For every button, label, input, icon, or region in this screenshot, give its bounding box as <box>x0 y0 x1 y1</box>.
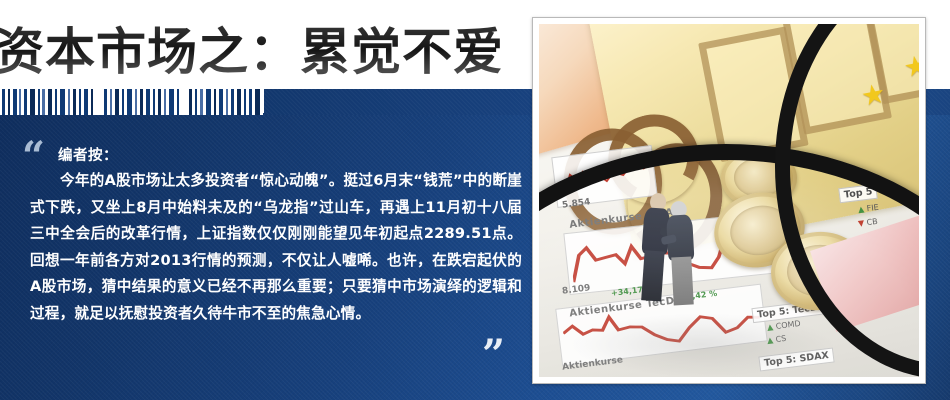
quote-close-icon: ” <box>482 341 503 369</box>
article-banner: 资本市场之：累觉不爱 <box>0 0 950 400</box>
article-photo-frame: ★ ★ ★ ★ <box>532 17 926 384</box>
barcode-decoration <box>0 89 263 115</box>
quote-open-icon: “ <box>22 143 43 171</box>
page-title: 资本市场之：累觉不爱 <box>0 20 514 86</box>
editor-note-body: 今年的A股市场让太多投资者“惊心动魄”。挺过6月末“钱荒”中的断崖式下跌，又坐上… <box>30 168 522 327</box>
editor-note-label: 编者按： <box>58 144 118 165</box>
article-photo: ★ ★ ★ ★ <box>539 24 919 377</box>
